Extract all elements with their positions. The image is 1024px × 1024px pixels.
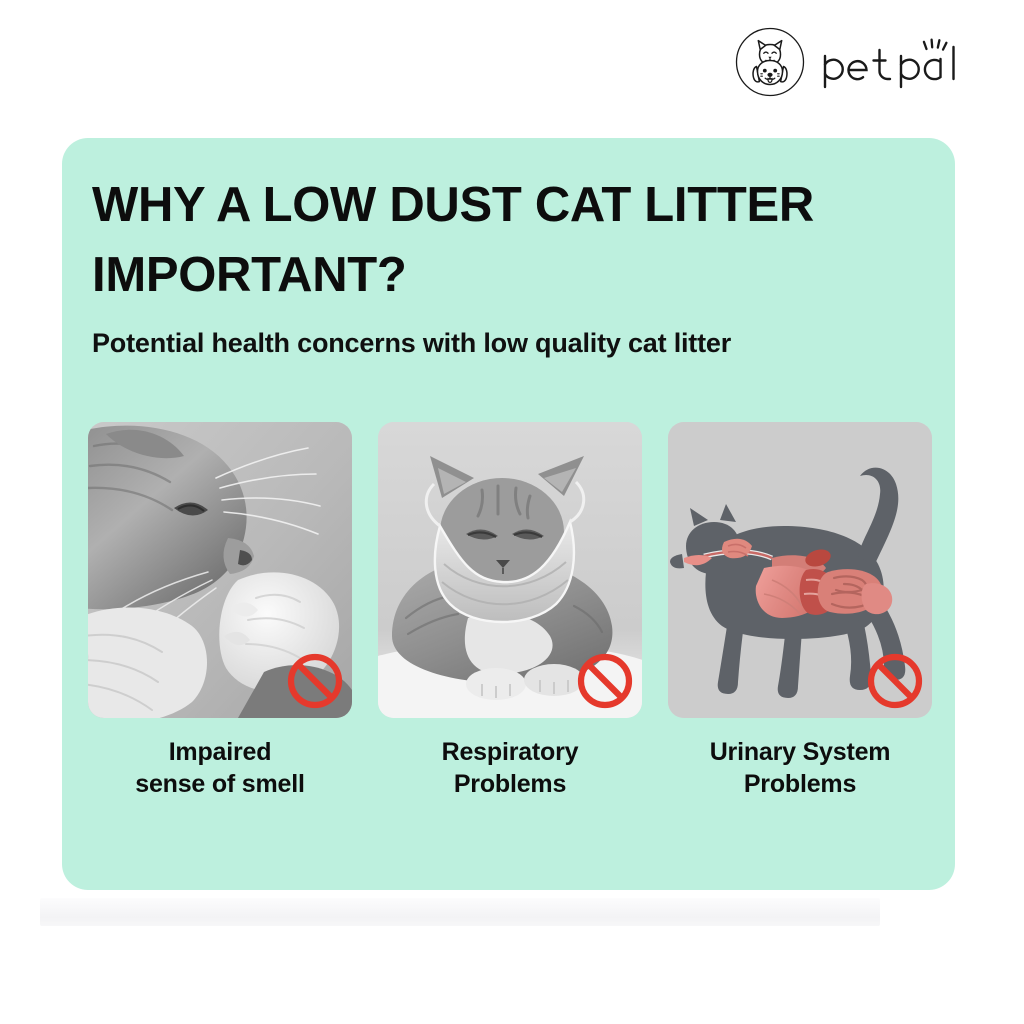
panel-caption: Impaired sense of smell	[135, 736, 305, 800]
petpal-circle-icon	[734, 26, 806, 98]
infographic-card: Why a low dust cat litter important? Pot…	[62, 138, 955, 890]
prohibition-sign-icon	[576, 652, 634, 710]
page-subtitle: Potential health concerns with low quali…	[92, 326, 942, 360]
page-title: Why a low dust cat litter important?	[92, 170, 932, 310]
panel-caption: Respiratory Problems	[442, 736, 579, 800]
panel-impaired-smell: Impaired sense of smell	[88, 422, 352, 800]
prohibition-sign-icon	[286, 652, 344, 710]
photo-cat-with-mask	[378, 422, 642, 718]
infographic-page: Why a low dust cat litter important? Pot…	[0, 0, 1024, 1024]
prohibition-sign-icon	[866, 652, 924, 710]
panel-respiratory-problems: Respiratory Problems	[378, 422, 642, 800]
petpal-wordmark	[820, 26, 996, 98]
brand-logo	[734, 26, 996, 98]
card-shadow-shelf	[40, 898, 880, 926]
panel-urinary-problems: Urinary System Problems	[668, 422, 932, 800]
illustration-cat-anatomy	[668, 422, 932, 718]
concern-panels: Impaired sense of smell	[88, 422, 933, 800]
photo-cat-sniffing-paw	[88, 422, 352, 718]
panel-caption: Urinary System Problems	[710, 736, 891, 800]
